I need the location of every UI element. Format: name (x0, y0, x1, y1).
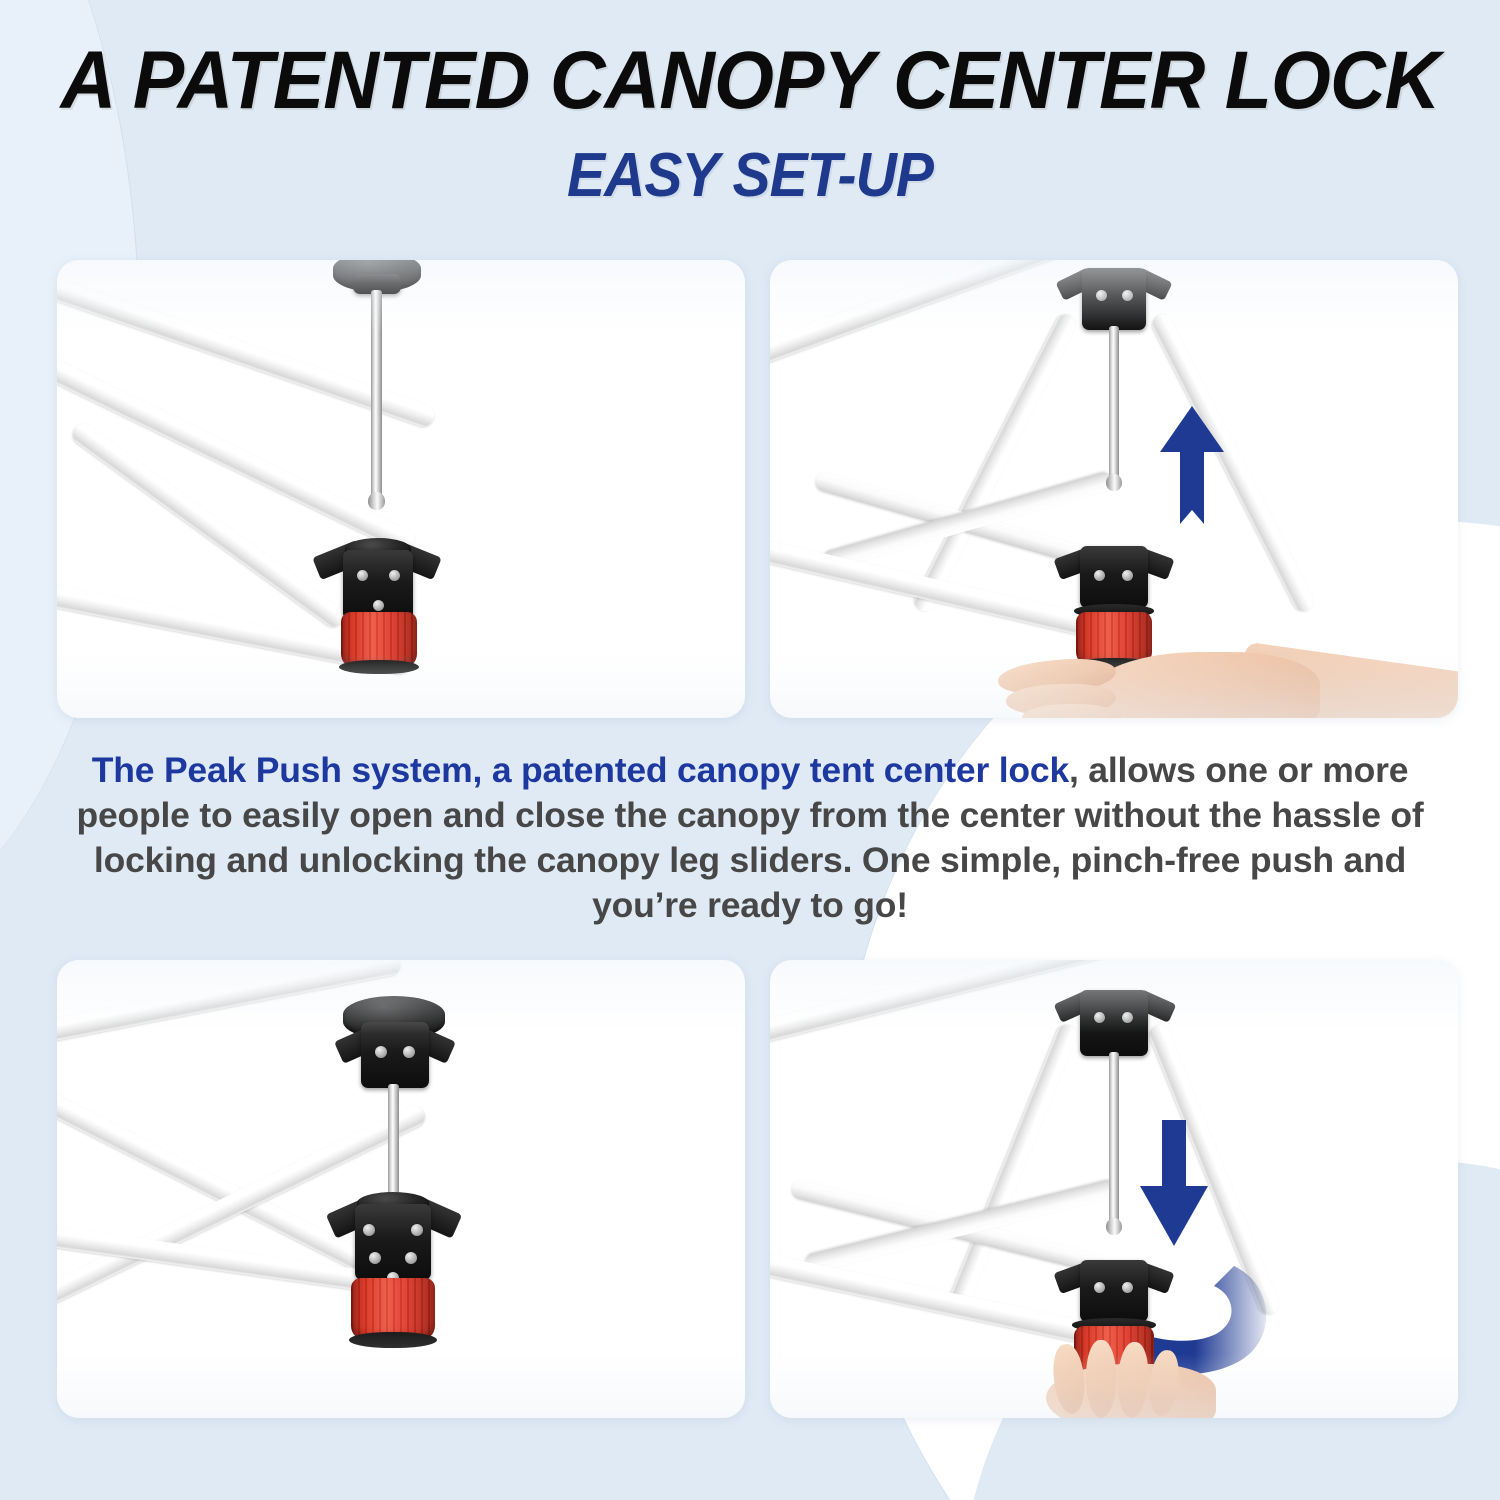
center-push-rod-tip (1106, 1218, 1122, 1235)
lock-hub (1080, 1260, 1148, 1322)
infographic-page: A PATENTED CANOPY CENTER LOCK EASY SET-U… (0, 0, 1500, 1500)
center-push-rod (1109, 326, 1119, 481)
hub-screw (405, 1252, 417, 1264)
arrow-down-icon (1136, 1118, 1212, 1248)
frame-tube (911, 311, 1079, 614)
lock-hub (355, 1204, 431, 1280)
hub-screw (357, 570, 368, 581)
page-title: A PATENTED CANOPY CENTER LOCK (45, 34, 1455, 128)
center-push-rod (388, 1084, 399, 1202)
hub-screw (1122, 290, 1133, 301)
hub-screw (1122, 570, 1133, 581)
page-subtitle: EASY SET-UP (60, 140, 1440, 211)
description-highlight: The Peak Push system, a patented canopy … (92, 750, 1069, 790)
panel-illustration-top-right (770, 260, 1458, 718)
frame-tube (57, 960, 402, 1046)
hub-screw (369, 1252, 381, 1264)
red-center-lock (351, 1278, 435, 1340)
hub-screw (373, 600, 384, 611)
hub-screw (1094, 1282, 1105, 1293)
panel-illustration-top-left (57, 260, 745, 718)
arrow-up-icon (1156, 404, 1228, 526)
hub-screw (1122, 1282, 1133, 1293)
red-center-lock-base (339, 660, 419, 674)
peak-hub (1080, 990, 1148, 1056)
lock-hub (1080, 546, 1148, 608)
hub-screw (1094, 570, 1105, 581)
peak-hub (361, 1022, 429, 1088)
panel-illustration-bottom-left (57, 960, 745, 1418)
panel-hand-pushing-lock-up (770, 260, 1458, 718)
center-push-rod-tip (368, 492, 385, 510)
hub-screw (363, 1224, 375, 1236)
red-center-lock-base (349, 1332, 437, 1348)
hub-screw (1096, 290, 1107, 301)
center-push-rod (1109, 1052, 1119, 1224)
hub-screw (389, 570, 400, 581)
hub-screw (411, 1224, 423, 1236)
hub-screw (1094, 1012, 1105, 1023)
description-paragraph: The Peak Push system, a patented canopy … (48, 748, 1452, 928)
center-push-rod (371, 290, 382, 498)
peak-hub (1082, 268, 1146, 330)
panel-illustration-bottom-right (770, 960, 1458, 1418)
panel-canopy-frame-extended-rod (57, 260, 745, 718)
hub-screw (1122, 1012, 1133, 1023)
hub-screw (375, 1046, 387, 1058)
center-push-rod-tip (1106, 474, 1122, 491)
panel-canopy-frame-locked (57, 960, 745, 1418)
panel-hand-rotating-lock-down (770, 960, 1458, 1418)
hand-finger (1086, 1340, 1116, 1418)
hub-screw (403, 1046, 415, 1058)
